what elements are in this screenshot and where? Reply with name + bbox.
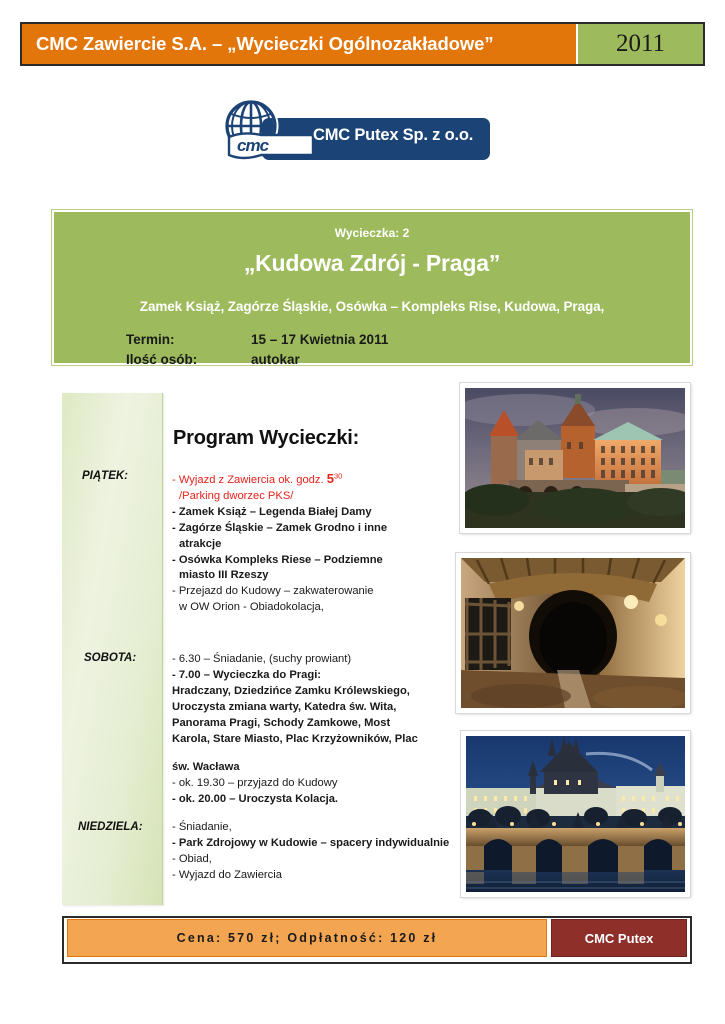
photo-prague-castle-night <box>461 731 690 897</box>
program-line: - Wyjazd do Zawiercia <box>172 868 450 884</box>
program-line: Karola, Stare Miasto, Plac Krzyżowników,… <box>172 732 450 748</box>
program-line: Panorama Pragi, Schody Zamkowe, Most <box>172 716 450 732</box>
program-line: - Park Zdrojowy w Kudowie – spacery indy… <box>172 836 450 852</box>
program-lines-sobota: - 6.30 – Śniadanie, (suchy prowiant)- 7.… <box>172 652 450 808</box>
logo-cmc-mark: cmc <box>237 136 268 156</box>
program-line: - Obiad, <box>172 852 450 868</box>
trip-title: „Kudowa Zdrój - Praga” <box>54 250 690 277</box>
program-heading: Program Wycieczki: <box>173 427 359 450</box>
program-line: atrakcje <box>172 537 450 553</box>
photo-riese-underground <box>456 553 690 713</box>
trip-people-label: Ilość osób: <box>126 350 251 370</box>
trip-number: Wycieczka: 2 <box>54 226 690 240</box>
program-line: - ok. 20.00 – Uroczysta Kolacja. <box>172 792 450 808</box>
program-lines-niedziela: - Śniadanie,- Park Zdrojowy w Kudowie – … <box>172 820 450 884</box>
program-line: - Zagórze Śląskie – Zamek Grodno i inne <box>172 521 450 537</box>
program-line: Hradczany, Dziedzińce Zamku Królewskiego… <box>172 684 450 700</box>
program-line: w OW Orion - Obiadokolacja, <box>172 600 450 616</box>
program-line: /Parking dworzec PKS/ <box>172 489 450 505</box>
company-logo: cmc CMC Putex Sp. z o.o. <box>205 98 495 176</box>
photo-ksiaz-castle <box>460 383 690 533</box>
logo-company-name: CMC Putex Sp. z o.o. <box>313 126 473 145</box>
price-text: Cena: 570 zł; Odpłatność: 120 zł <box>67 919 547 957</box>
program-lines-piatek: - Wyjazd z Zawiercia ok. godz. 530/Parki… <box>172 470 450 616</box>
trip-route: Zamek Książ, Zagórze Śląskie, Osówka – K… <box>54 299 690 314</box>
program-line: Uroczysta zmiana warty, Katedra św. Wita… <box>172 700 450 716</box>
program-line: - 6.30 – Śniadanie, (suchy prowiant) <box>172 652 450 668</box>
program-line: św. Wacława <box>172 760 450 776</box>
trip-term-value: 15 – 17 Kwietnia 2011 <box>251 330 388 350</box>
program-line-spacer <box>172 747 450 760</box>
trip-details: Termin: 15 – 17 Kwietnia 2011 Ilość osób… <box>54 330 690 369</box>
day-label-sobota: SOBOTA: <box>84 652 136 664</box>
trip-people-value: autokar <box>251 350 300 370</box>
program-line: - 7.00 – Wycieczka do Pragi: <box>172 668 450 684</box>
page-header: CMC Zawiercie S.A. – „Wycieczki Ogólnoza… <box>20 22 705 66</box>
program-line: miasto III Rzeszy <box>172 568 450 584</box>
program-line: - Osówka Kompleks Riese – Podziemne <box>172 553 450 569</box>
program-line: - Śniadanie, <box>172 820 450 836</box>
day-label-niedziela: NIEDZIELA: <box>78 821 143 833</box>
program-line: - ok. 19.30 – przyjazd do Kudowy <box>172 776 450 792</box>
trip-term-row: Termin: 15 – 17 Kwietnia 2011 <box>126 330 690 350</box>
price-footer: Cena: 570 zł; Odpłatność: 120 zł CMC Put… <box>62 916 692 964</box>
footer-company-tag: CMC Putex <box>551 919 687 957</box>
trip-term-label: Termin: <box>126 330 251 350</box>
day-label-piatek: PIĄTEK: <box>82 470 128 482</box>
program-line: - Wyjazd z Zawiercia ok. godz. 530 <box>172 470 450 489</box>
header-title: CMC Zawiercie S.A. – „Wycieczki Ogólnoza… <box>22 24 578 64</box>
trip-info-panel: Wycieczka: 2 „Kudowa Zdrój - Praga” Zame… <box>52 210 692 365</box>
program-line: - Przejazd do Kudowy – zakwaterowanie <box>172 584 450 600</box>
trip-people-row: Ilość osób: autokar <box>126 350 690 370</box>
program-line: - Zamek Książ – Legenda Białej Damy <box>172 505 450 521</box>
header-year: 2011 <box>578 24 703 64</box>
